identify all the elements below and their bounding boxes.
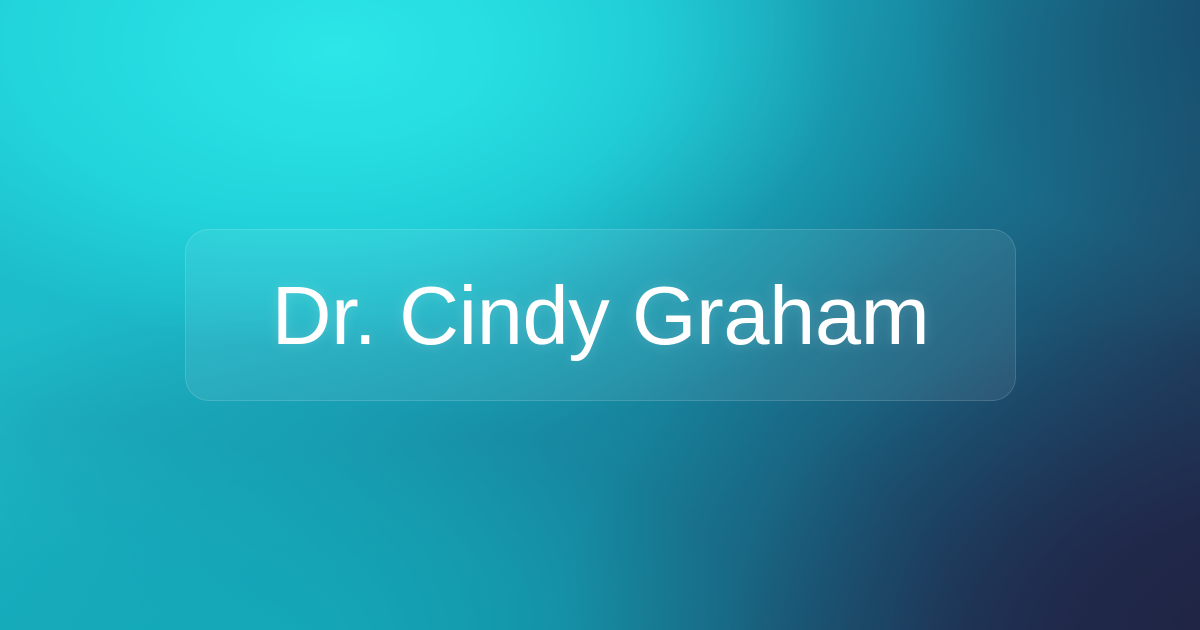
name-card: Dr. Cindy Graham <box>185 229 1016 401</box>
title-card-stage: Dr. Cindy Graham <box>0 0 1200 630</box>
page-title: Dr. Cindy Graham <box>272 274 930 357</box>
